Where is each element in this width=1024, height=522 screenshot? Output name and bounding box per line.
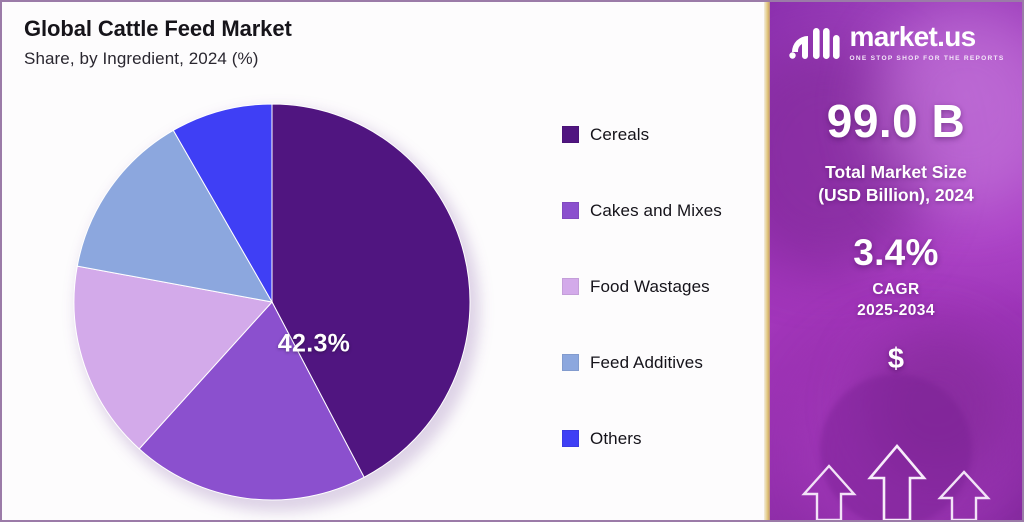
- stats-panel: market.us ONE STOP SHOP FOR THE REPORTS …: [770, 2, 1022, 520]
- logo-text: market.us ONE STOP SHOP FOR THE REPORTS: [850, 22, 1005, 62]
- legend-swatch-icon: [562, 430, 579, 447]
- chart-legend: Cereals Cakes and Mixes Food Wastages Fe…: [562, 124, 762, 449]
- legend-swatch-icon: [562, 354, 579, 371]
- dollar-sign-icon: $: [888, 345, 904, 374]
- upward-arrows-icon: [770, 448, 1022, 520]
- pie-chart: 42.3%: [70, 100, 474, 504]
- logo-tagline: ONE STOP SHOP FOR THE REPORTS: [850, 55, 1005, 62]
- arrow-up-right-icon: [934, 468, 994, 520]
- legend-item-label: Others: [590, 429, 642, 449]
- cagr-value: 3.4%: [853, 234, 939, 271]
- market-size-value: 99.0 B: [827, 98, 966, 144]
- arrow-up-center-icon: [864, 442, 930, 520]
- cagr-period: 2025-2034: [857, 300, 935, 321]
- chart-subtitle: Share, by Ingredient, 2024 (%): [24, 49, 292, 69]
- market-us-bars-logo-icon: [788, 22, 842, 62]
- page-title: Global Cattle Feed Market: [24, 16, 292, 42]
- market-size-caption-line2: (USD Billion), 2024: [818, 184, 974, 207]
- market-us-logo[interactable]: market.us ONE STOP SHOP FOR THE REPORTS: [788, 22, 1005, 62]
- legend-swatch-icon: [562, 278, 579, 295]
- pie-slice-value-label: 42.3%: [278, 330, 350, 359]
- cagr-caption: CAGR 2025-2034: [857, 279, 935, 322]
- chart-header: Global Cattle Feed Market Share, by Ingr…: [24, 16, 292, 69]
- legend-item-cakes-and-mixes[interactable]: Cakes and Mixes: [562, 200, 762, 221]
- legend-item-food-wastages[interactable]: Food Wastages: [562, 276, 762, 297]
- legend-item-cereals[interactable]: Cereals: [562, 124, 762, 145]
- market-size-caption: Total Market Size (USD Billion), 2024: [818, 161, 974, 208]
- legend-item-feed-additives[interactable]: Feed Additives: [562, 352, 762, 373]
- market-size-caption-line1: Total Market Size: [818, 161, 974, 184]
- legend-swatch-icon: [562, 202, 579, 219]
- cagr-label: CAGR: [857, 279, 935, 300]
- legend-item-label: Feed Additives: [590, 353, 703, 373]
- legend-item-label: Cereals: [590, 125, 649, 145]
- pie-slices: [70, 100, 474, 504]
- legend-item-label: Food Wastages: [590, 277, 710, 297]
- legend-item-label: Cakes and Mixes: [590, 201, 722, 221]
- legend-swatch-icon: [562, 126, 579, 143]
- arrow-up-left-icon: [798, 462, 860, 520]
- chart-panel: Global Cattle Feed Market Share, by Ingr…: [2, 2, 764, 520]
- infographic-frame: Global Cattle Feed Market Share, by Ingr…: [0, 0, 1024, 522]
- logo-wordmark: market.us: [850, 23, 1005, 51]
- legend-item-others[interactable]: Others: [562, 428, 762, 449]
